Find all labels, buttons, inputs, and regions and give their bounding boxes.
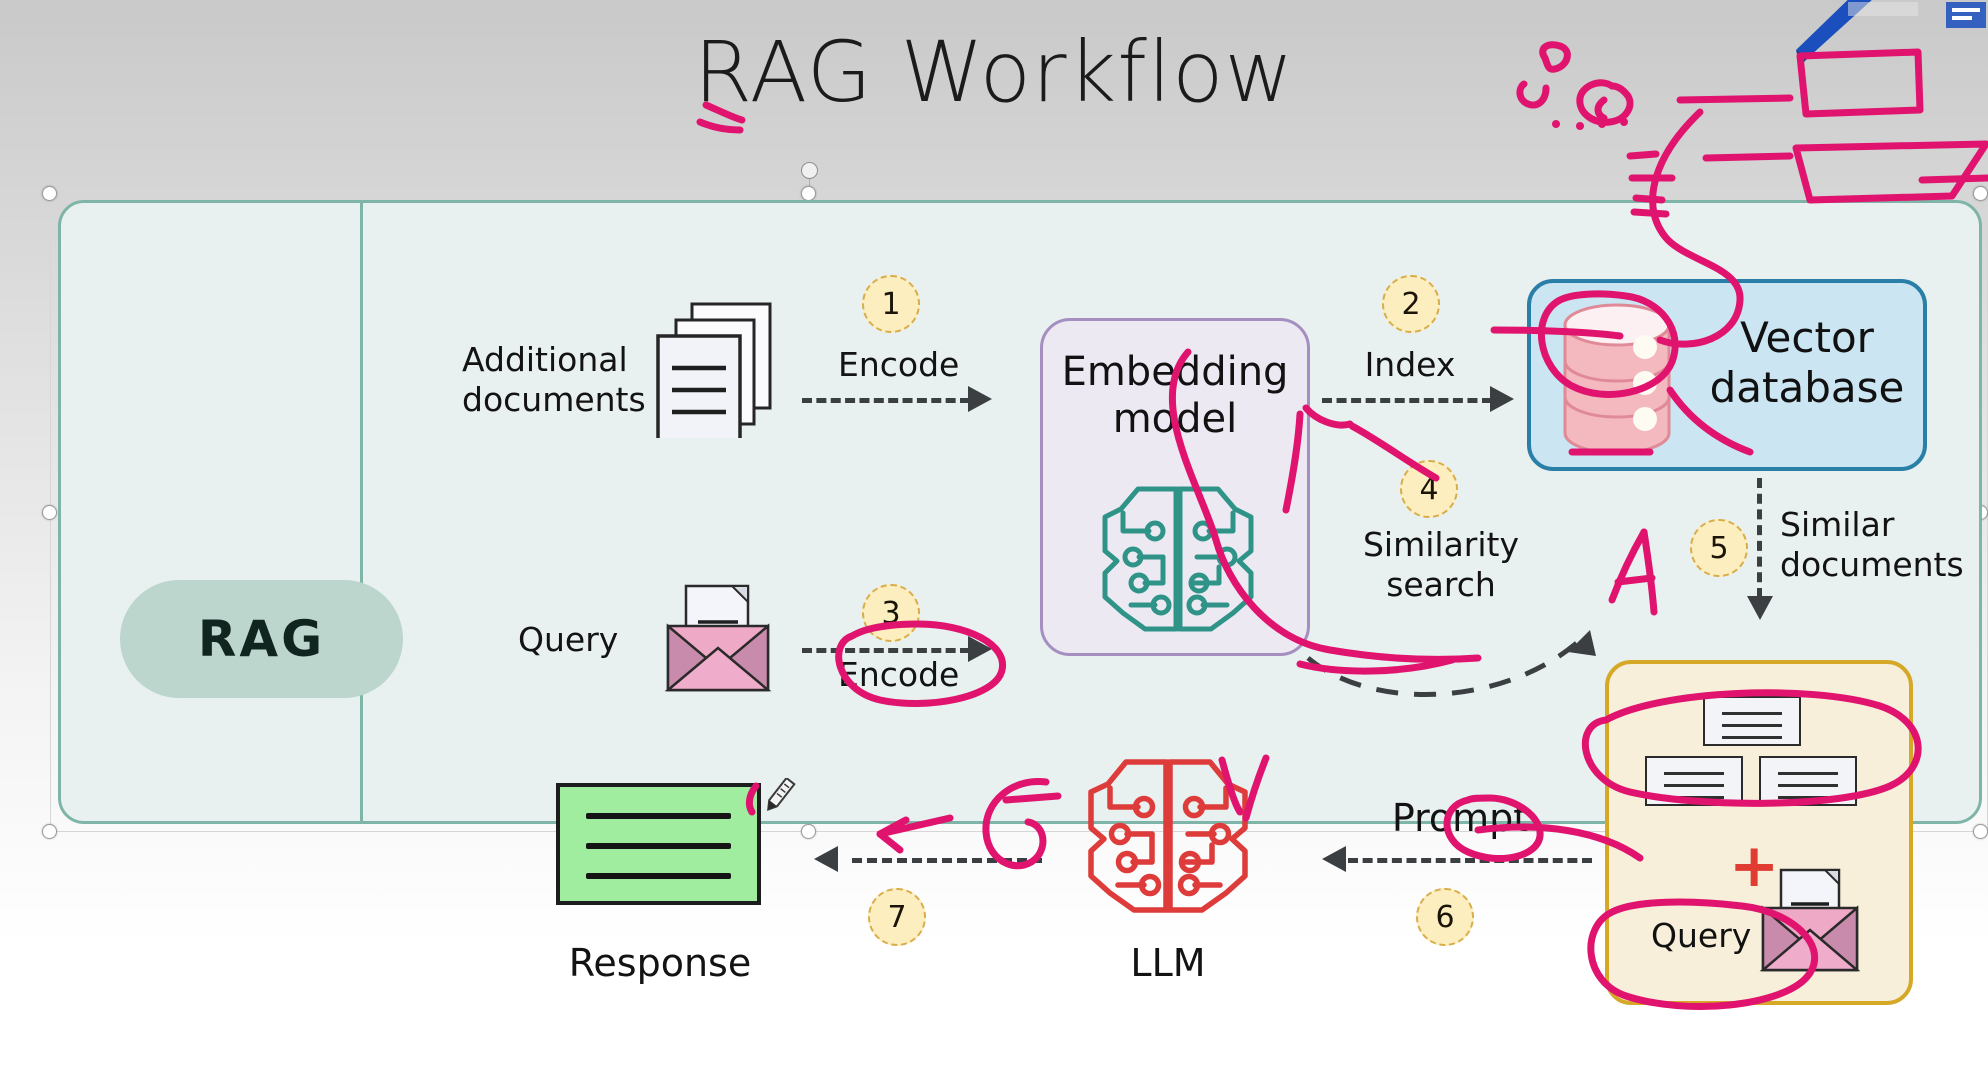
stacked-documents-icon xyxy=(650,298,780,438)
response-arrow-head xyxy=(814,846,838,872)
selection-handle-bottom-right[interactable] xyxy=(1973,824,1988,839)
step-badge-1: 1 xyxy=(862,275,920,333)
response-arrow-line xyxy=(852,858,1042,863)
prompt-arrow-head xyxy=(1322,846,1346,872)
selection-handle-top-left[interactable] xyxy=(42,186,57,201)
similar-documents-label: Similar documents xyxy=(1780,505,1988,586)
embedding-model-label: Embedding model xyxy=(1043,349,1307,443)
step-badge-2: 2 xyxy=(1382,275,1440,333)
encode-label-1: Encode xyxy=(838,345,958,385)
step-badge-5: 5 xyxy=(1690,519,1748,577)
index-label: Index xyxy=(1350,345,1470,385)
context-card[interactable]: + Query xyxy=(1605,660,1913,1005)
query-label: Query xyxy=(518,620,658,660)
selection-handle-top-right[interactable] xyxy=(1973,186,1988,201)
similar-documents-arrow-line xyxy=(1757,478,1762,598)
encode-label-2: Encode xyxy=(838,655,958,695)
vector-database-card[interactable]: Vector database xyxy=(1527,279,1927,471)
similarity-search-curved-arrow xyxy=(1300,600,1640,730)
step-badge-4: 4 xyxy=(1400,460,1458,518)
similarity-search-label: Similarity search xyxy=(1316,525,1566,606)
encode-arrow-1-line xyxy=(802,398,970,403)
step-badge-3: 3 xyxy=(862,584,920,642)
selection-handle-mid-left[interactable] xyxy=(42,505,57,520)
response-label: Response xyxy=(520,940,800,986)
selection-handle-top-center[interactable] xyxy=(801,186,816,201)
context-envelope-document-icon xyxy=(1757,864,1867,982)
context-doc-card-2 xyxy=(1645,756,1743,806)
encode-arrow-2-line xyxy=(802,648,970,653)
context-doc-card-3 xyxy=(1759,756,1857,806)
pen-cursor-icon xyxy=(762,778,808,824)
envelope-document-icon xyxy=(660,580,780,700)
embedding-model-card[interactable]: Embedding model xyxy=(1040,318,1310,656)
window-controls-strip[interactable] xyxy=(1848,0,1988,34)
database-cylinder-icon xyxy=(1557,303,1687,455)
selection-handle-bottom-center[interactable] xyxy=(801,824,816,839)
circuit-brain-icon xyxy=(1093,479,1263,639)
prompt-arrow-line xyxy=(1348,858,1592,863)
llm-circuit-brain-icon xyxy=(1078,752,1258,920)
step-badge-7: 7 xyxy=(868,888,926,946)
prompt-label: Prompt xyxy=(1360,795,1560,841)
index-arrow-line xyxy=(1322,398,1492,403)
selection-handle-bottom-left[interactable] xyxy=(42,824,57,839)
encode-arrow-2-head xyxy=(968,636,992,662)
panel-divider xyxy=(360,200,363,824)
index-arrow-head xyxy=(1490,386,1514,412)
context-doc-card-1 xyxy=(1703,696,1801,746)
rag-pill[interactable]: RAG xyxy=(120,580,403,698)
slide-canvas: RAG Workflow RAG Additional documents 1 … xyxy=(0,0,1988,1072)
similar-documents-arrow-head xyxy=(1747,596,1773,620)
context-query-label: Query xyxy=(1651,916,1751,955)
page-title: RAG Workflow xyxy=(0,28,1988,116)
llm-label: LLM xyxy=(1068,940,1268,986)
additional-documents-label: Additional documents xyxy=(462,340,662,421)
rotate-handle[interactable] xyxy=(801,162,818,179)
encode-arrow-1-head xyxy=(968,386,992,412)
step-badge-6: 6 xyxy=(1416,888,1474,946)
response-box[interactable] xyxy=(556,783,761,905)
vector-database-label: Vector database xyxy=(1691,313,1923,414)
